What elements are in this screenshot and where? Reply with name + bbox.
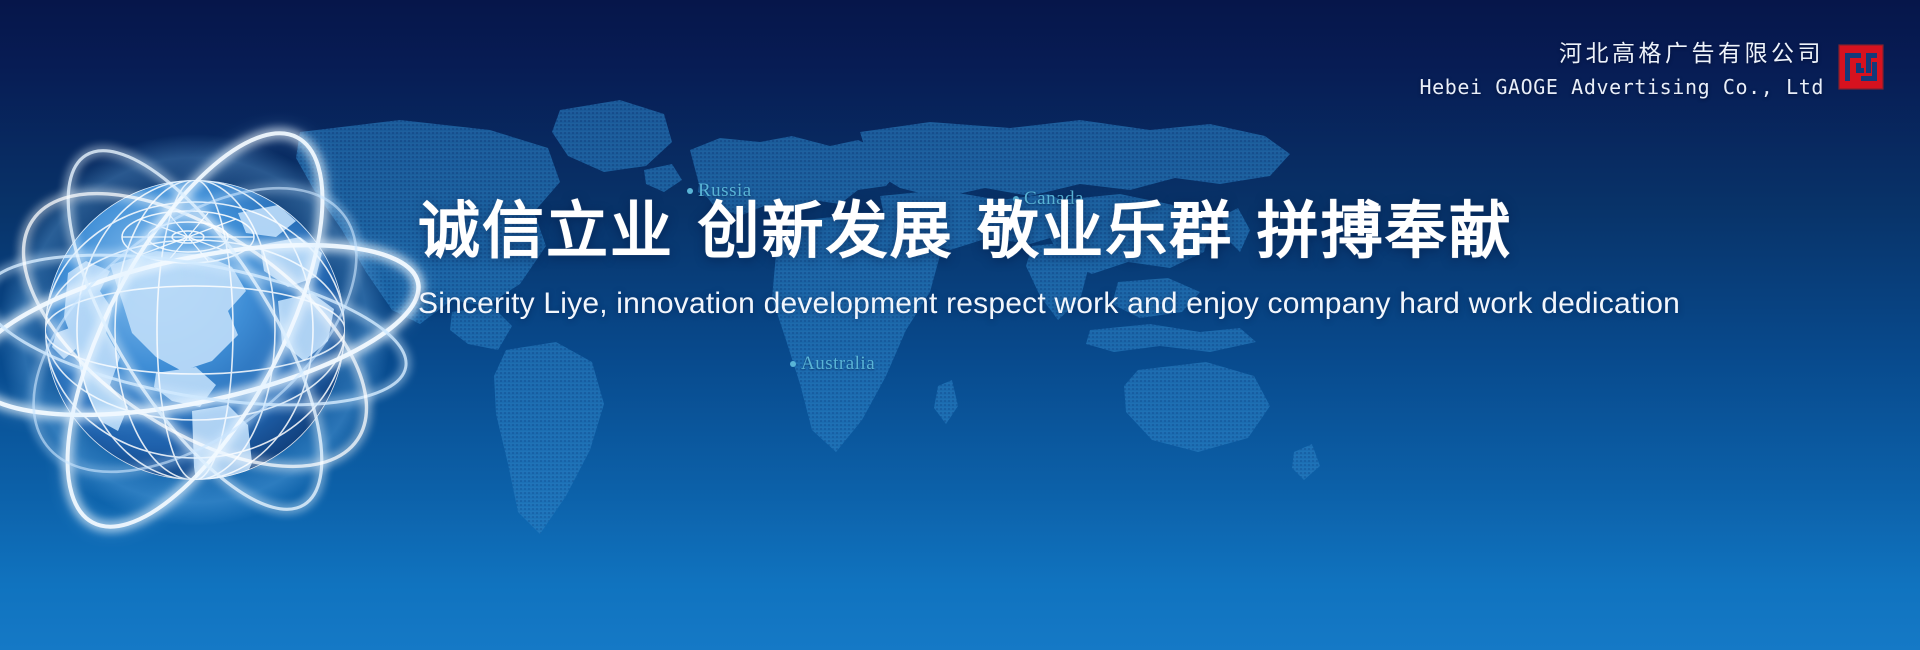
network-globe-graphic (0, 95, 430, 565)
map-pin-dot-icon (687, 188, 693, 194)
slogan-block: 诚信立业 创新发展 敬业乐群 拼搏奉献 Sincerity Liye, inno… (418, 198, 1478, 321)
map-label-text: Australia (801, 353, 875, 374)
slogan-headline-chinese: 诚信立业 创新发展 敬业乐群 拼搏奉献 (418, 198, 1478, 265)
map-label-australia: Australia (790, 353, 875, 375)
corporate-identity-block: 河北高格广告有限公司 Hebei GAOGE Advertising Co., … (1419, 38, 1884, 101)
slogan-subtitle-english: Sincerity Liye, innovation development r… (418, 287, 1478, 321)
company-name-chinese: 河北高格广告有限公司 (1419, 40, 1824, 69)
corporate-name-group: 河北高格广告有限公司 Hebei GAOGE Advertising Co., … (1419, 38, 1824, 101)
company-name-english: Hebei GAOGE Advertising Co., Ltd (1419, 73, 1824, 101)
gaoge-logo-icon (1838, 44, 1884, 90)
map-pin-dot-icon (790, 361, 796, 367)
company-banner: Russia Canada Australia (0, 0, 1920, 650)
